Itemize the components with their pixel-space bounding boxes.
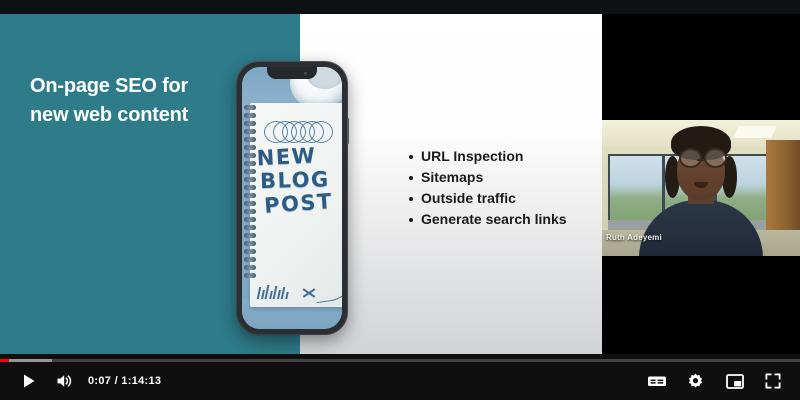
bullet-item: Generate search links — [408, 209, 598, 230]
volume-button[interactable] — [50, 364, 80, 398]
presenter-glasses-left — [679, 148, 702, 168]
progress-played — [0, 359, 9, 362]
phone-screen: NEW BLOG POST — [242, 67, 342, 329]
player-control-bar: 0:07 / 1:14:13 — [0, 354, 800, 400]
notebook-swoosh — [314, 280, 342, 303]
progress-track — [0, 359, 800, 362]
subtitles-icon[interactable] — [642, 364, 672, 398]
slide-title: On-page SEO for new web content — [30, 72, 260, 130]
ceiling-light — [733, 126, 777, 138]
notebook-bottom-marks — [258, 281, 342, 303]
progress-bar[interactable] — [0, 358, 800, 362]
bullet-item: Sitemaps — [408, 167, 598, 188]
phone-side-button — [347, 118, 349, 144]
miniplayer-icon[interactable] — [720, 364, 750, 398]
presenter-glasses-bridge — [697, 159, 705, 161]
notebook-x-mark — [302, 286, 315, 299]
bullet-item: Outside traffic — [408, 188, 598, 209]
slide-bullet-list: URL Inspection Sitemaps Outside traffic … — [408, 146, 598, 230]
notebook-handwriting: NEW BLOG POST — [256, 143, 342, 218]
handwriting-line-3: POST — [264, 189, 342, 219]
phone-notch — [267, 67, 317, 79]
notebook-spiral-binding — [244, 105, 256, 305]
phone-mockup: NEW BLOG POST — [237, 62, 347, 334]
letterbox-top — [0, 0, 800, 14]
video-player: On-page SEO for new web content — [0, 0, 800, 400]
presentation-slide: On-page SEO for new web content — [0, 14, 602, 354]
fullscreen-icon[interactable] — [758, 364, 788, 398]
slide-title-line-1: On-page SEO for — [30, 72, 260, 101]
time-display: 0:07 / 1:14:13 — [88, 364, 161, 398]
presenter-webcam: Ruth Adeyemi — [602, 120, 800, 256]
slide-title-line-2: new web content — [30, 101, 260, 130]
notebook-scribble-loops — [264, 119, 338, 145]
play-button[interactable] — [14, 364, 44, 398]
presenter-glasses-right — [704, 148, 727, 168]
presenter-name-label: Ruth Adeyemi — [606, 233, 662, 242]
video-stage[interactable]: On-page SEO for new web content — [0, 0, 800, 368]
bullet-item: URL Inspection — [408, 146, 598, 167]
gear-icon[interactable] — [680, 364, 710, 398]
